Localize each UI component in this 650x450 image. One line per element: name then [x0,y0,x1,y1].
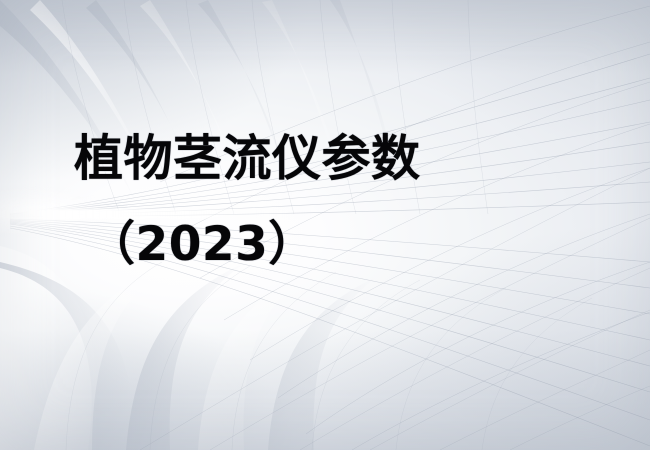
page-title: 植物茎流仪参数 [74,133,421,186]
slide-subtitle-year: （2023） [88,219,316,271]
title-text-block: 植物茎流仪参数 （2023） [0,0,650,450]
title-slide: 植物茎流仪参数 （2023） [0,0,650,450]
